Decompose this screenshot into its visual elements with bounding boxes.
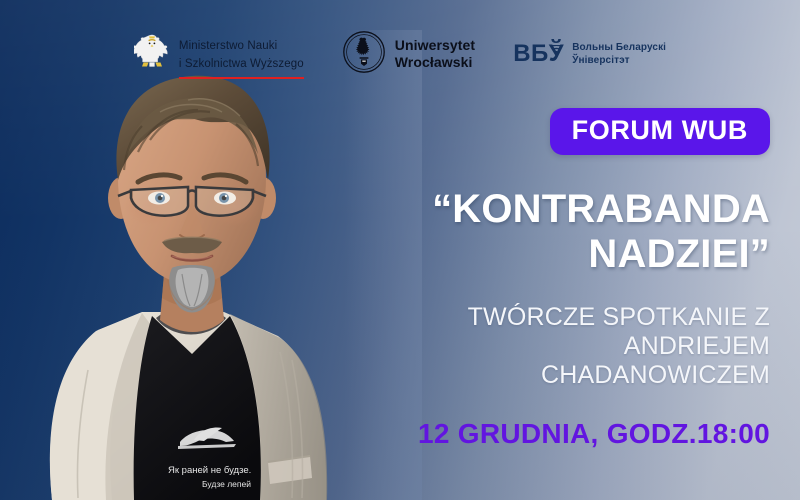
tshirt-text-line-1: Як раней не будзе. [168,465,251,476]
ministry-line-1: Ministerstwo Nauki [179,40,277,52]
university-of-wroclaw-logo: Uniwersytet Wrocławski [342,30,475,79]
ministry-logo: Ministerstwo Nauki i Szkolnictwa Wyższeg… [134,31,304,78]
logo-bar: Ministerstwo Nauki i Szkolnictwa Wyższeg… [0,26,800,82]
university-line-2: Wrocławski [395,54,473,70]
vbu-breve-icon [550,34,563,42]
forum-wub-badge: FORUM WUB [550,108,770,155]
university-line-1: Uniwersytet [395,37,475,53]
vbu-line-2: Ўніверсітэт [572,55,629,66]
event-title-line-2: NADZIEI” [588,232,770,276]
event-poster: Ministerstwo Nauki i Szkolnictwa Wyższeg… [0,0,800,500]
ministry-red-rule [179,77,304,79]
ministry-line-2: i Szkolnictwa Wyższego [179,58,304,70]
event-subtitle: TWÓRCZE SPOTKANIE Z ANDRIEJEM CHADANOWIC… [340,303,770,390]
vbu-line-1: Вольны Беларускі [572,42,666,53]
event-title-line-1: “KONTRABANDA [432,187,770,231]
event-subtitle-line-2: ANDRIEJEM [624,332,770,360]
event-subtitle-line-3: CHADANOWICZEM [541,361,770,389]
university-logo-text: Uniwersytet Wrocławski [395,37,475,71]
vbu-logo-text: Вольны Беларускі Ўніверсітэт [572,41,666,67]
event-datetime: 12 GRUDNIA, GODZ.18:00 [340,420,770,448]
vbu-logo: ВБЎ Вольны Беларускі Ўніверсітэт [513,41,666,67]
polish-eagle-icon [134,31,170,78]
ministry-logo-textblock: Ministerstwo Nauki i Szkolnictwa Wyższeg… [179,36,304,72]
event-subtitle-line-1: TWÓRCZE SPOTKANIE Z [468,303,770,331]
ministry-logo-text: Ministerstwo Nauki i Szkolnictwa Wyższeg… [179,40,304,70]
event-title: “KONTRABANDA NADZIEI” [340,187,770,277]
vbu-abbreviation: ВБЎ [513,42,564,66]
tshirt-text-line-2: Будзе лепей [202,479,251,489]
poster-content: FORUM WUB “KONTRABANDA NADZIEI” TWÓRCZE … [340,108,770,448]
wroclaw-crest-icon [342,30,386,79]
